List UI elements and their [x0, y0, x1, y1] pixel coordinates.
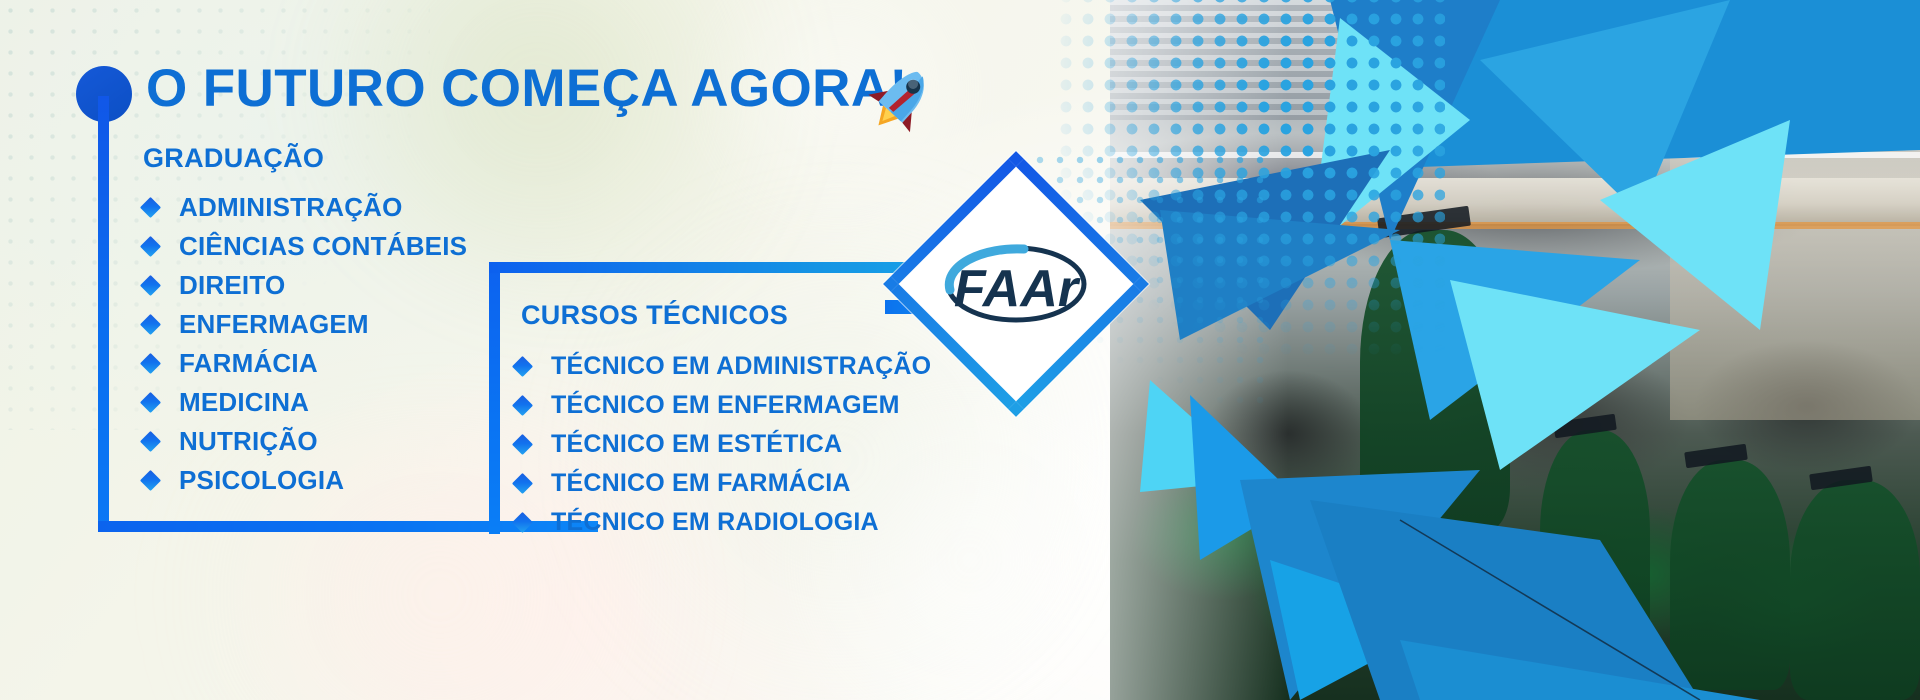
- diamond-bullet-icon: [140, 314, 161, 335]
- rocket-icon: [866, 60, 942, 140]
- graduacao-course-item[interactable]: MEDICINA: [143, 383, 467, 422]
- tecnicos-course-label: TÉCNICO EM ESTÉTICA: [551, 430, 842, 459]
- diamond-bullet-icon: [512, 512, 533, 533]
- tecnicos-course-item[interactable]: TÉCNICO EM ENFERMAGEM: [515, 386, 931, 425]
- graduacao-frame-vertical: [98, 96, 109, 532]
- diamond-bullet-icon: [512, 356, 533, 377]
- faar-logo-text: FAAr: [954, 260, 1081, 318]
- diamond-bullet-icon: [140, 275, 161, 296]
- graduacao-course-item[interactable]: NUTRIÇÃO: [143, 422, 467, 461]
- tecnicos-course-label: TÉCNICO EM ENFERMAGEM: [551, 391, 900, 420]
- graduacao-course-item[interactable]: CIÊNCIAS CONTÁBEIS: [143, 227, 467, 266]
- promotional-banner: O FUTURO COMEÇA AGORA! GRADUAÇÃO ADMINIS…: [0, 0, 1920, 700]
- graduacao-course-label: MEDICINA: [179, 387, 309, 418]
- graduacao-course-item[interactable]: DIREITO: [143, 266, 467, 305]
- faar-logo: FAAr: [938, 236, 1094, 332]
- tecnicos-course-label: TÉCNICO EM RADIOLOGIA: [551, 508, 879, 537]
- graduacao-course-list: ADMINISTRAÇÃOCIÊNCIAS CONTÁBEISDIREITOEN…: [143, 188, 467, 500]
- diamond-bullet-icon: [512, 434, 533, 455]
- graduacao-course-label: PSICOLOGIA: [179, 465, 344, 496]
- tecnicos-frame-vertical: [489, 262, 500, 534]
- diamond-bullet-icon: [512, 473, 533, 494]
- graduacao-course-label: ADMINISTRAÇÃO: [179, 192, 403, 223]
- graduacao-course-label: CIÊNCIAS CONTÁBEIS: [179, 231, 467, 262]
- cursos-tecnicos-section-title: CURSOS TÉCNICOS: [521, 300, 788, 331]
- tecnicos-course-label: TÉCNICO EM FARMÁCIA: [551, 469, 851, 498]
- tecnicos-course-label: TÉCNICO EM ADMINISTRAÇÃO: [551, 352, 931, 381]
- diamond-bullet-icon: [512, 395, 533, 416]
- tecnicos-course-item[interactable]: TÉCNICO EM ESTÉTICA: [515, 425, 931, 464]
- graduacao-course-item[interactable]: ENFERMAGEM: [143, 305, 467, 344]
- graduacao-course-item[interactable]: FARMÁCIA: [143, 344, 467, 383]
- graduacao-section-title: GRADUAÇÃO: [143, 143, 324, 174]
- diamond-bullet-icon: [140, 470, 161, 491]
- tecnicos-course-item[interactable]: TÉCNICO EM ADMINISTRAÇÃO: [515, 347, 931, 386]
- graduacao-course-label: DIREITO: [179, 270, 285, 301]
- diamond-bullet-icon: [140, 431, 161, 452]
- graduacao-course-item[interactable]: ADMINISTRAÇÃO: [143, 188, 467, 227]
- tecnicos-frame-horizontal: [489, 262, 959, 273]
- diamond-bullet-icon: [140, 392, 161, 413]
- graduacao-course-label: ENFERMAGEM: [179, 309, 369, 340]
- diamond-bullet-icon: [140, 353, 161, 374]
- graduacao-course-label: NUTRIÇÃO: [179, 426, 318, 457]
- graduacao-course-item[interactable]: PSICOLOGIA: [143, 461, 467, 500]
- diamond-bullet-icon: [140, 197, 161, 218]
- graduacao-course-label: FARMÁCIA: [179, 348, 318, 379]
- diamond-bullet-icon: [140, 236, 161, 257]
- tecnicos-course-item[interactable]: TÉCNICO EM RADIOLOGIA: [515, 503, 931, 542]
- tecnicos-course-item[interactable]: TÉCNICO EM FARMÁCIA: [515, 464, 931, 503]
- page-title: O FUTURO COMEÇA AGORA!: [146, 58, 908, 119]
- logo-container: FAAr: [922, 190, 1110, 378]
- cursos-tecnicos-course-list: TÉCNICO EM ADMINISTRAÇÃOTÉCNICO EM ENFER…: [515, 347, 931, 542]
